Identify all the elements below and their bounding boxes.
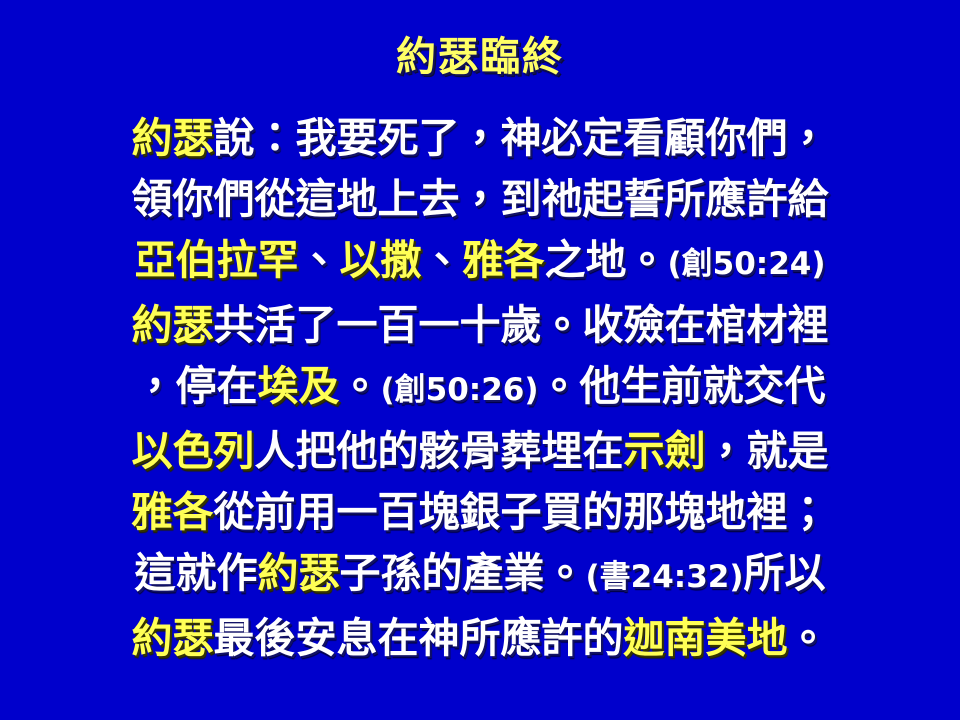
text-line: 這就作約瑟子孫的產業。(書24:32)所以 bbox=[14, 543, 946, 608]
highlighted-term: 約瑟 bbox=[132, 614, 214, 662]
highlighted-term: 以撒 bbox=[339, 236, 421, 284]
text-segment: 從前用一百塊銀子買的那塊地裡； bbox=[214, 488, 829, 536]
text-line: 亞伯拉罕、以撒、雅各之地。(創50:24) bbox=[14, 230, 946, 295]
text-segment: 子孫的產業。 bbox=[339, 549, 585, 597]
page-title: 約瑟臨終 bbox=[0, 36, 960, 78]
text-segment: 之地。 bbox=[544, 236, 667, 284]
text-segment: 、 bbox=[421, 236, 462, 284]
text-segment: 說：我要死了，神必定看顧你們， bbox=[214, 114, 829, 162]
highlighted-term: 約瑟 bbox=[257, 549, 339, 597]
text-line: 約瑟說：我要死了，神必定看顧你們， bbox=[14, 108, 946, 169]
highlighted-term: 雅各 bbox=[132, 488, 214, 536]
text-segment: ，就是 bbox=[706, 427, 829, 475]
text-segment: 。 bbox=[788, 614, 829, 662]
text-segment: 最後安息在神所應許的 bbox=[214, 614, 624, 662]
text-line: 雅各從前用一百塊銀子買的那塊地裡； bbox=[14, 482, 946, 543]
highlighted-term: 約瑟 bbox=[132, 301, 214, 349]
text-segment: ，停在 bbox=[134, 362, 257, 410]
presentation-slide: 約瑟臨終 約瑟說：我要死了，神必定看顧你們，領你們從這地上去，到祂起誓所應許給亞… bbox=[0, 0, 960, 720]
scripture-reference: (創50:26) bbox=[380, 372, 538, 408]
highlighted-term: 埃及 bbox=[257, 362, 339, 410]
text-segment: 、 bbox=[298, 236, 339, 284]
text-line: 約瑟最後安息在神所應許的迦南美地。 bbox=[14, 608, 946, 669]
text-segment: 。他生前就交代 bbox=[539, 362, 826, 410]
text-segment: 這就作 bbox=[134, 549, 257, 597]
text-line: 約瑟共活了一百一十歲。收殮在棺材裡 bbox=[14, 295, 946, 356]
highlighted-term: 以色列 bbox=[132, 427, 255, 475]
text-line: 領你們從這地上去，到祂起誓所應許給 bbox=[14, 169, 946, 230]
scripture-reference: (書24:32) bbox=[585, 559, 743, 595]
text-line: ，停在埃及。(創50:26)。他生前就交代 bbox=[14, 356, 946, 421]
text-segment: 人把他的骸骨葬埋在 bbox=[255, 427, 624, 475]
highlighted-term: 亞伯拉罕 bbox=[134, 236, 298, 284]
scripture-reference: (創50:24) bbox=[667, 246, 825, 282]
highlighted-term: 示劍 bbox=[624, 427, 706, 475]
text-segment: 共活了一百一十歲。收殮在棺材裡 bbox=[214, 301, 829, 349]
slide-body-text: 約瑟說：我要死了，神必定看顧你們，領你們從這地上去，到祂起誓所應許給亞伯拉罕、以… bbox=[0, 108, 960, 669]
text-line: 以色列人把他的骸骨葬埋在示劍，就是 bbox=[14, 421, 946, 482]
highlighted-term: 雅各 bbox=[462, 236, 544, 284]
text-segment: 所以 bbox=[744, 549, 826, 597]
highlighted-term: 約瑟 bbox=[132, 114, 214, 162]
text-segment: 領你們從這地上去，到祂起誓所應許給 bbox=[132, 175, 829, 223]
highlighted-term: 迦南美地 bbox=[624, 614, 788, 662]
text-segment: 。 bbox=[339, 362, 380, 410]
